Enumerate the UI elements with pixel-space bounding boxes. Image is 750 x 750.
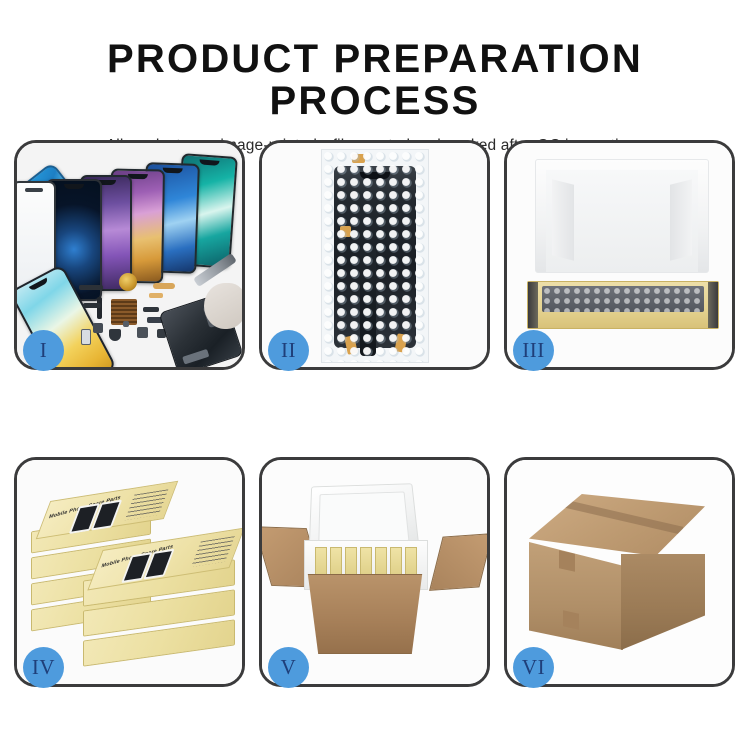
small-part-icon-3	[109, 329, 121, 341]
step-badge-3: III	[513, 330, 554, 371]
page-header: PRODUCT PREPARATION PROCESS All products…	[0, 0, 750, 155]
small-part-icon-6	[123, 321, 129, 327]
screen-assembly	[334, 166, 416, 348]
white-foam-lid	[535, 159, 709, 273]
carton-front-face	[529, 542, 623, 650]
step-badge-1: I	[23, 330, 64, 371]
flex-cable-part-icon	[153, 283, 175, 289]
box-stack: Mobile Phone Spare Parts Mobile Phone Sp…	[27, 478, 239, 674]
small-part-icon-4	[137, 327, 148, 338]
process-step-card-5[interactable]: V	[259, 457, 490, 687]
screen-flex-cable	[360, 246, 376, 356]
process-step-card-3[interactable]: III	[504, 140, 735, 370]
carton-flap-right	[429, 533, 487, 591]
box-label-spec-lines	[125, 489, 169, 520]
carton-body	[300, 574, 430, 654]
kraft-box-tray	[527, 281, 719, 329]
hand-icon	[204, 283, 242, 329]
box-label-spec-lines-2	[191, 536, 235, 567]
wrapped-contents	[542, 286, 704, 312]
process-step-card-2[interactable]: II	[259, 140, 490, 370]
tape-icon-1	[352, 154, 365, 163]
flex-cable-part-icon-2	[149, 293, 163, 298]
step-badge-4: IV	[23, 647, 64, 688]
tape-icon-2	[340, 226, 351, 237]
lid-flap-right	[670, 179, 692, 260]
bubble-wrap-bag	[321, 149, 429, 363]
process-step-card-4[interactable]: Mobile Phone Spare Parts Mobile Phone Sp…	[14, 457, 245, 687]
process-step-grid: I II	[14, 140, 736, 687]
small-part-icon-1	[93, 323, 103, 333]
carton-top-face	[529, 494, 705, 556]
step-badge-5: V	[268, 647, 309, 688]
process-step-card-1[interactable]: I	[14, 140, 245, 370]
carton-tab-icon-1	[559, 550, 575, 571]
process-step-card-6[interactable]: VI	[504, 457, 735, 687]
cable-part-icon-1	[97, 297, 102, 319]
strip-part-icon	[79, 285, 103, 290]
small-part-icon-2	[81, 329, 91, 345]
carton-tab-icon-2	[563, 610, 579, 629]
tape-icon-4	[394, 333, 407, 352]
step-badge-2: II	[268, 330, 309, 371]
lid-flap-left	[552, 179, 574, 260]
cable-part-icon-3	[143, 307, 159, 312]
carton-side-face	[621, 554, 705, 650]
product-preparation-page: PRODUCT PREPARATION PROCESS All products…	[0, 0, 750, 750]
cable-part-icon-2	[83, 303, 101, 308]
page-title: PRODUCT PREPARATION PROCESS	[0, 38, 750, 122]
coil-part-icon	[119, 273, 137, 291]
step-badge-6: VI	[513, 647, 554, 688]
